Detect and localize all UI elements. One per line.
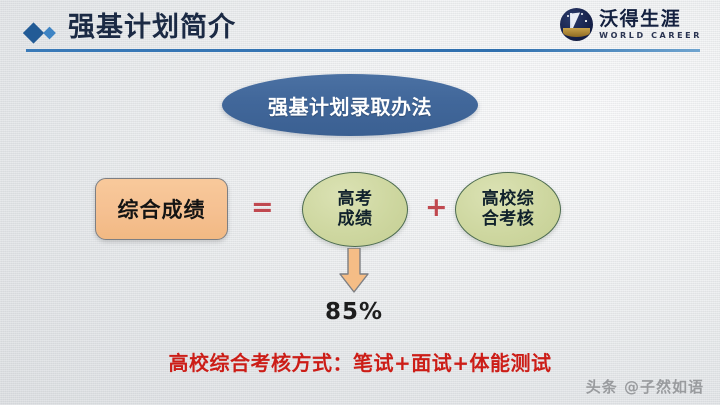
diagram-heading-label: 强基计划录取办法 bbox=[268, 91, 432, 120]
formula-result-box: 综合成绩 bbox=[95, 178, 228, 240]
title-underline bbox=[26, 49, 700, 52]
sailboat-circle-logo-icon bbox=[560, 8, 593, 41]
brand-logo: 沃得生涯 WORLD CAREER bbox=[560, 8, 702, 41]
watermark: 头条 @子然如语 bbox=[586, 376, 704, 397]
formula-result-label: 综合成绩 bbox=[118, 194, 206, 224]
down-arrow-icon bbox=[334, 248, 374, 294]
formula-term-gaokao: 高考成绩 bbox=[302, 172, 408, 247]
diagram-heading-ellipse: 强基计划录取办法 bbox=[222, 74, 478, 136]
formula-term-gaokao-label: 高考成绩 bbox=[338, 190, 373, 228]
footnote-text: 高校综合考核方式：笔试+面试+体能测试 bbox=[0, 347, 720, 376]
double-diamond-icon bbox=[23, 22, 63, 44]
equals-operator: = bbox=[251, 194, 274, 221]
down-arrow-svg bbox=[334, 248, 374, 294]
formula-term-university-assessment: 高校综合考核 bbox=[455, 172, 561, 247]
logo-wordmark: 沃得生涯 WORLD CAREER bbox=[599, 10, 702, 40]
formula-term-university-assessment-label: 高校综合考核 bbox=[482, 190, 535, 228]
slide-canvas: 强基计划简介 沃得生涯 WORLD CAREER 强基计划录取办法 综合成绩 =… bbox=[0, 0, 720, 405]
logo-name-en: WORLD CAREER bbox=[599, 32, 702, 40]
logo-name-cn: 沃得生涯 bbox=[599, 10, 702, 29]
percentage-value: 85% bbox=[301, 299, 407, 325]
page-title: 强基计划简介 bbox=[68, 10, 236, 46]
plus-operator: + bbox=[425, 194, 448, 221]
double-diamond-svg bbox=[23, 22, 63, 44]
